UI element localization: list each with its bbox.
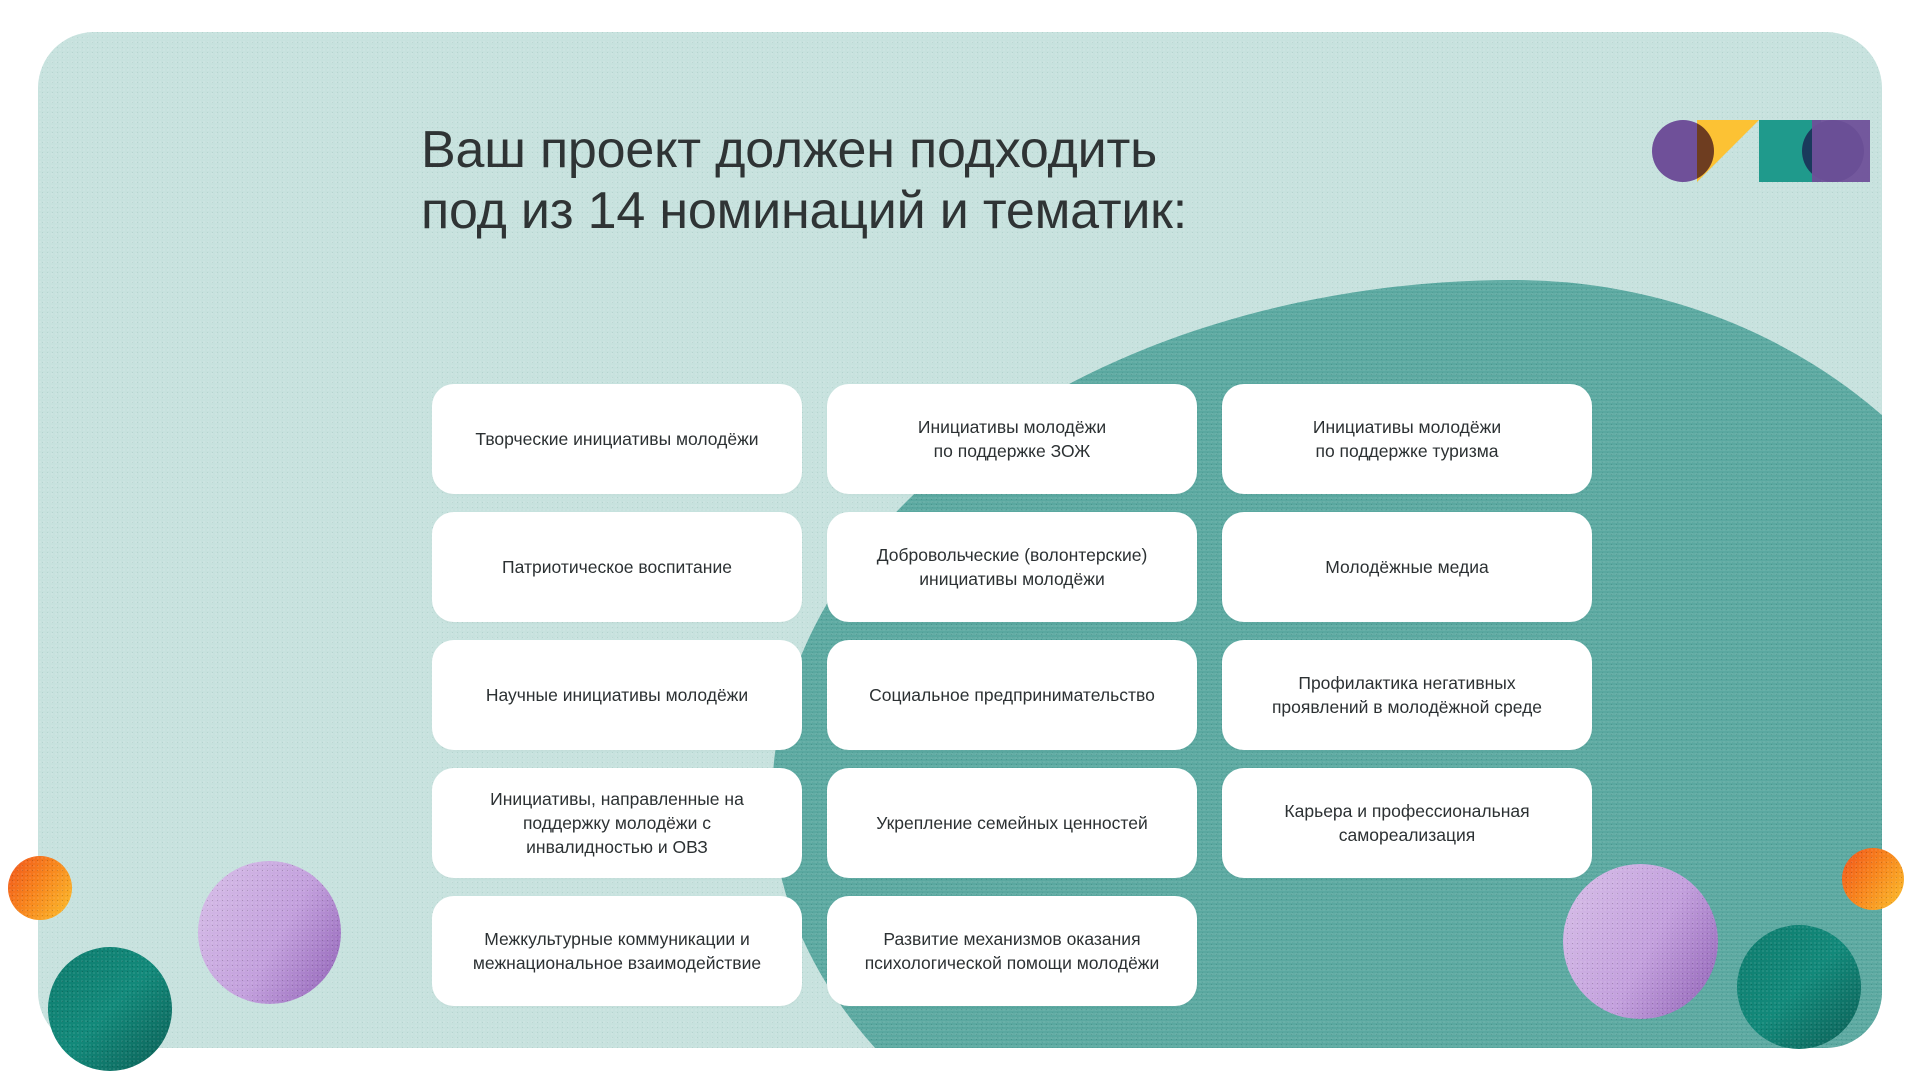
nomination-card[interactable]: Творческие инициативы молодёжи bbox=[432, 384, 802, 494]
nomination-card[interactable]: Инициативы, направленные на поддержку мо… bbox=[432, 768, 802, 878]
nomination-card[interactable]: Патриотическое воспитание bbox=[432, 512, 802, 622]
nomination-card[interactable]: Укрепление семейных ценностей bbox=[827, 768, 1197, 878]
decoration-circle-orange-left bbox=[8, 856, 72, 920]
nomination-card[interactable]: Профилактика негативных проявлений в мол… bbox=[1222, 640, 1592, 750]
nomination-card[interactable]: Молодёжные медиа bbox=[1222, 512, 1592, 622]
page-title: Ваш проект должен подходить под из 14 но… bbox=[421, 120, 1481, 243]
brand-logo bbox=[1652, 120, 1870, 182]
decoration-circle-teal-right bbox=[1737, 925, 1861, 1049]
decoration-circle-orange-right bbox=[1842, 848, 1904, 910]
nomination-card[interactable]: Социальное предпринимательство bbox=[827, 640, 1197, 750]
nomination-card[interactable]: Добровольческие (волонтерские) инициатив… bbox=[827, 512, 1197, 622]
nomination-card[interactable]: Инициативы молодёжи по поддержке туризма bbox=[1222, 384, 1592, 494]
logo-triangle-icon bbox=[1697, 120, 1759, 182]
decoration-circle-teal-left bbox=[48, 947, 172, 1071]
nominations-grid: Творческие инициативы молодёжи Инициатив… bbox=[432, 384, 1612, 1006]
nomination-card[interactable]: Развитие механизмов оказания психологиче… bbox=[827, 896, 1197, 1006]
slide-root: Ваш проект должен подходить под из 14 но… bbox=[0, 0, 1920, 1080]
logo-square-purple-icon bbox=[1812, 120, 1870, 182]
nomination-card[interactable]: Научные инициативы молодёжи bbox=[432, 640, 802, 750]
decoration-circle-purple-right bbox=[1563, 864, 1718, 1019]
decoration-circle-purple-left bbox=[198, 861, 341, 1004]
nomination-card[interactable]: Межкультурные коммуникации и межнационал… bbox=[432, 896, 802, 1006]
nomination-card[interactable]: Карьера и профессиональная самореализаци… bbox=[1222, 768, 1592, 878]
nomination-card[interactable]: Инициативы молодёжи по поддержке ЗОЖ bbox=[827, 384, 1197, 494]
